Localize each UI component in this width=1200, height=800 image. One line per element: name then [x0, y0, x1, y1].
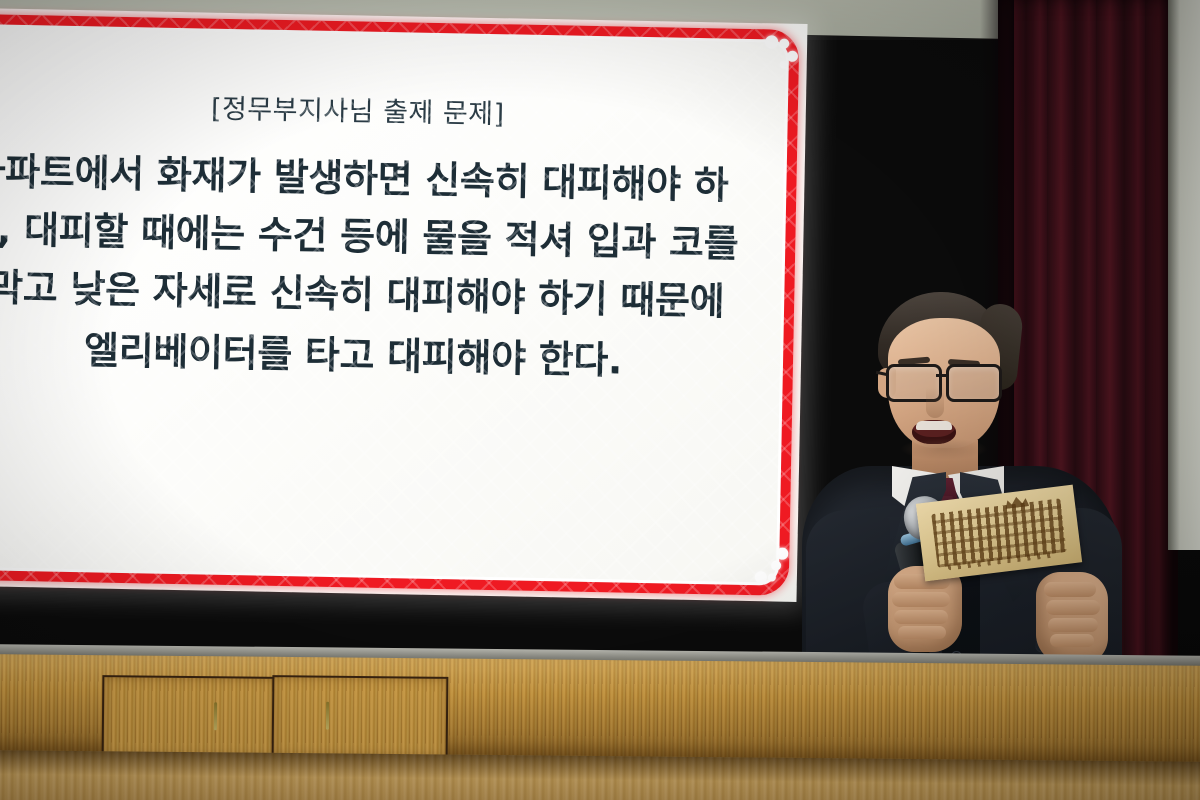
stage-panel-door-1 [102, 675, 279, 759]
hand-holding-card [1036, 572, 1108, 664]
finger [1050, 634, 1094, 647]
lens-right [946, 364, 1002, 402]
projection-screen: [정무부지사님 출제 문제] 아파트에서 화재가 발생하면 신속히 대피해야 하… [0, 8, 808, 602]
eyeglasses [884, 364, 1004, 398]
finger [898, 626, 946, 639]
door-handle [326, 702, 329, 730]
stage-panel-door-2 [272, 675, 449, 759]
curtain-wall-edge [1168, 0, 1200, 550]
finger [1044, 582, 1096, 597]
finger [1048, 618, 1098, 632]
finger [894, 610, 948, 624]
photo-scene: [정무부지사님 출제 문제] 아파트에서 화재가 발생하면 신속히 대피해야 하… [0, 0, 1200, 800]
finger [892, 592, 950, 607]
chin-shadow [900, 438, 988, 460]
door-handle [214, 702, 217, 730]
glasses-bridge [936, 374, 948, 377]
finger [1046, 600, 1100, 615]
slide-decorative-border [0, 14, 799, 596]
teeth [916, 421, 952, 430]
nose [926, 388, 944, 418]
